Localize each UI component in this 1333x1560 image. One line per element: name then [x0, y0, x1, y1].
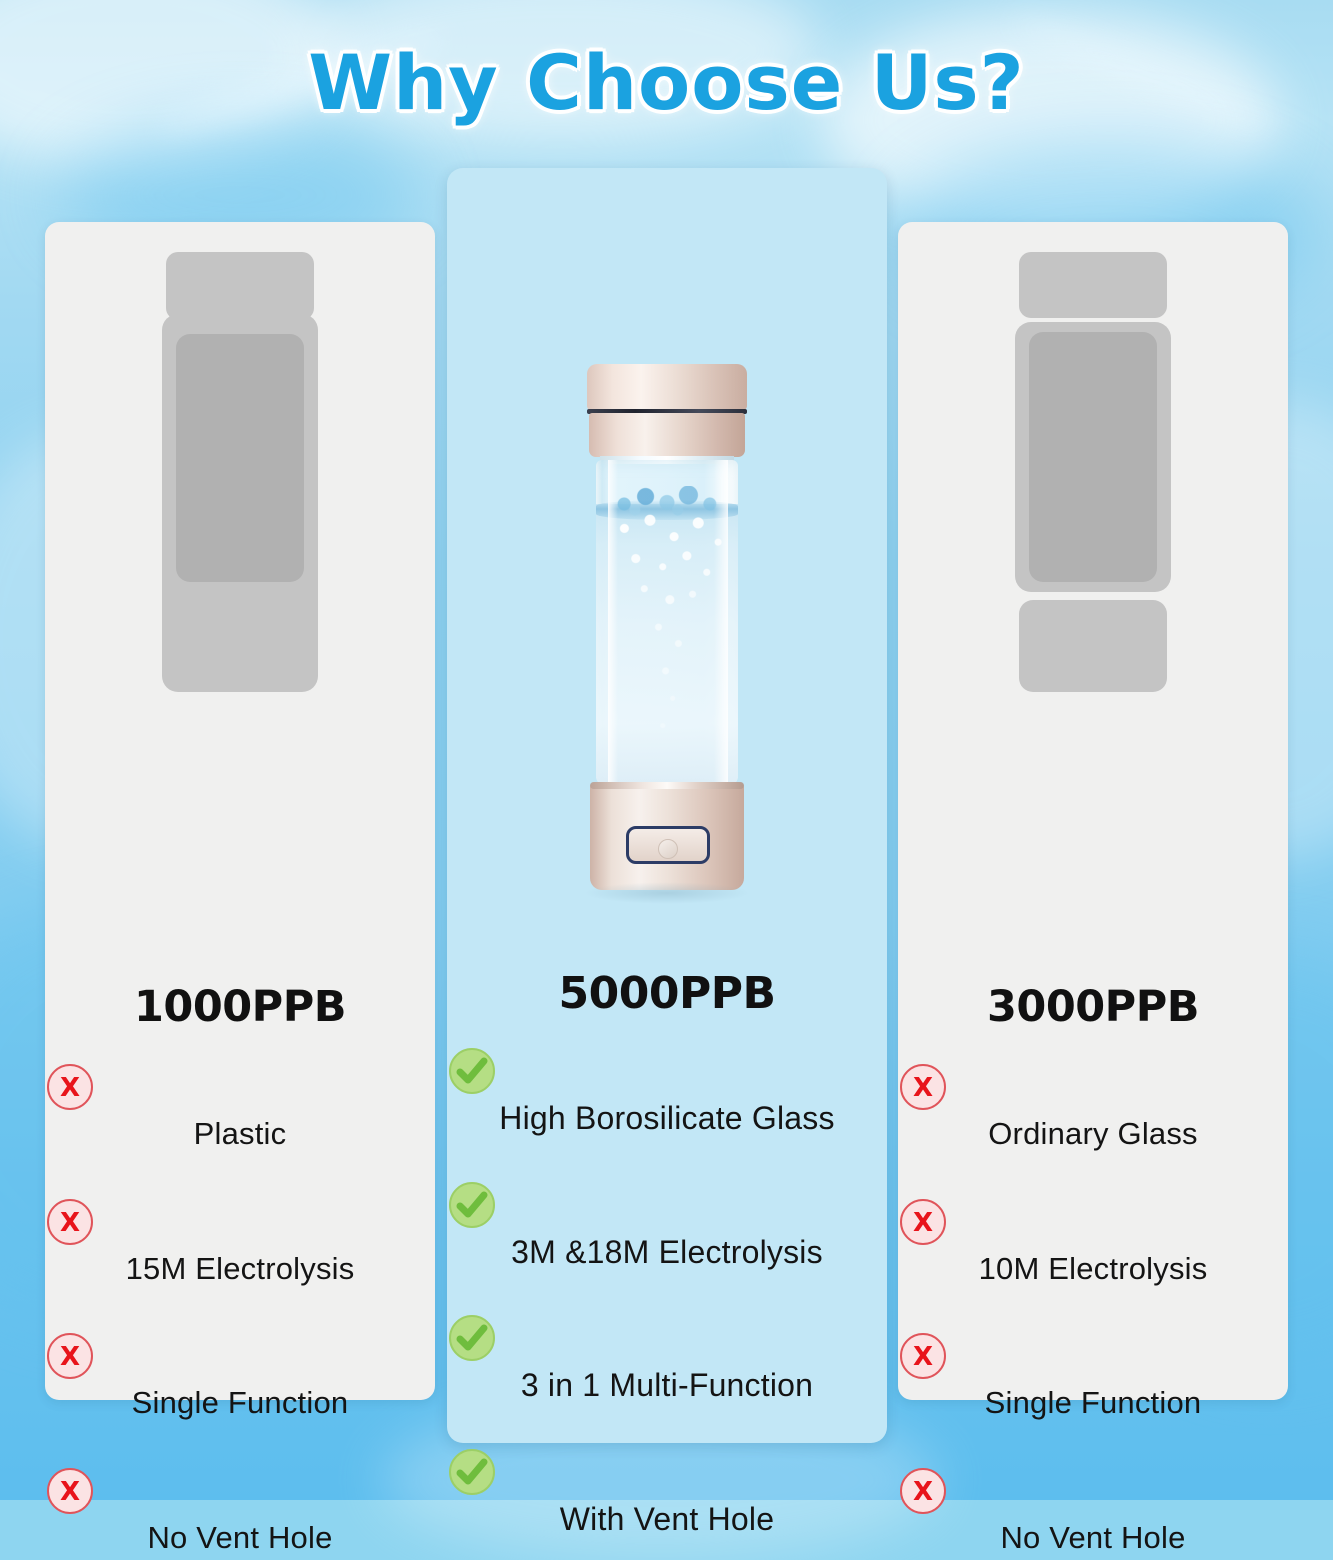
bottle-drop-shadow: [584, 882, 750, 904]
feature-row: 3 in 1 Multi-Function: [447, 1313, 887, 1403]
feature-label: 3M &18M Electrolysis: [447, 1236, 887, 1270]
check-icon: [447, 1046, 887, 1096]
column-heading: 3000PPB: [898, 982, 1288, 1032]
comparison-column-left: 1000PPB X Plastic X 15M Electrolysis: [45, 222, 435, 1400]
feature-row: X Single Function: [898, 1331, 1288, 1420]
bottle-control-panel: [626, 826, 710, 864]
feature-row: 3M &18M Electrolysis: [447, 1180, 887, 1270]
feature-label: 3 in 1 Multi-Function: [447, 1369, 887, 1403]
feature-row: X Single Function: [45, 1331, 435, 1420]
glass-highlight-right: [714, 460, 728, 786]
svg-text:X: X: [913, 1208, 933, 1238]
feature-label: Ordinary Glass: [898, 1118, 1288, 1151]
feature-row: X Plastic: [45, 1062, 435, 1151]
column-heading: 1000PPB: [45, 982, 435, 1032]
bottle-cap-lower: [589, 413, 745, 457]
feature-label: No Vent Hole: [898, 1522, 1288, 1555]
glass-highlight-left: [608, 460, 618, 786]
comparison-column-center-highlighted: 5000PPB High Borosilicate Glass 3M &18M …: [447, 168, 887, 1443]
bottle-base-lip: [590, 782, 744, 789]
grey-bottle-silhouette-icon: [1013, 252, 1173, 692]
cross-icon: X: [898, 1331, 1288, 1381]
feature-row: X 15M Electrolysis: [45, 1197, 435, 1286]
feature-row: X No Vent Hole: [898, 1466, 1288, 1555]
svg-text:X: X: [60, 1073, 80, 1103]
cross-icon: X: [45, 1331, 435, 1381]
svg-text:X: X: [913, 1477, 933, 1507]
check-icon: [447, 1313, 887, 1363]
feature-row: X No Vent Hole: [45, 1466, 435, 1555]
feature-label: Single Function: [898, 1387, 1288, 1420]
feature-label: No Vent Hole: [45, 1522, 435, 1555]
cross-icon: X: [45, 1466, 435, 1516]
feature-row: With Vent Hole: [447, 1447, 887, 1537]
feature-label: High Borosilicate Glass: [447, 1102, 887, 1136]
power-button-icon: [658, 839, 678, 859]
check-icon: [447, 1180, 887, 1230]
feature-label: 15M Electrolysis: [45, 1253, 435, 1286]
comparison-column-right: 3000PPB X Ordinary Glass X 10M Electroly…: [898, 222, 1288, 1400]
svg-text:X: X: [913, 1073, 933, 1103]
cross-icon: X: [898, 1466, 1288, 1516]
svg-text:X: X: [913, 1342, 933, 1372]
grey-bottle-silhouette-icon: [160, 252, 320, 692]
feature-label: With Vent Hole: [447, 1503, 887, 1537]
bottle-glass-body: [596, 460, 738, 786]
cross-icon: X: [898, 1197, 1288, 1247]
feature-label: Single Function: [45, 1387, 435, 1420]
svg-text:X: X: [60, 1342, 80, 1372]
check-icon: [447, 1447, 887, 1497]
hydrogen-water-bottle-image: [578, 364, 756, 912]
cross-icon: X: [45, 1062, 435, 1112]
feature-row: X Ordinary Glass: [898, 1062, 1288, 1151]
feature-label: 10M Electrolysis: [898, 1253, 1288, 1286]
cross-icon: X: [898, 1062, 1288, 1112]
svg-text:X: X: [60, 1208, 80, 1238]
column-heading: 5000PPB: [447, 968, 887, 1019]
svg-text:X: X: [60, 1477, 80, 1507]
bottle-cap-upper: [587, 364, 747, 410]
feature-label: Plastic: [45, 1118, 435, 1151]
page-title: Why Choose Us?: [0, 38, 1333, 127]
cross-icon: X: [45, 1197, 435, 1247]
feature-row: High Borosilicate Glass: [447, 1046, 887, 1136]
feature-row: X 10M Electrolysis: [898, 1197, 1288, 1286]
